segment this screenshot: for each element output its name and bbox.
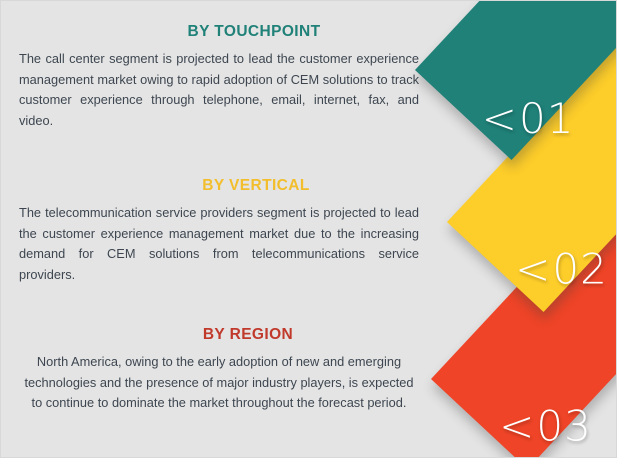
section-body-region: North America, owing to the early adopti… — [19, 352, 419, 414]
ribbon-number-03: <03 — [499, 402, 592, 451]
section-title-touchpoint: BY TOUCHPOINT — [19, 23, 419, 40]
ribbon-index-label: 03 — [536, 402, 591, 451]
chevron-left-icon: < — [482, 94, 518, 143]
section-body-touchpoint: The call center segment is projected to … — [19, 49, 419, 132]
ribbon-index-label: 02 — [552, 245, 607, 294]
section-body-vertical: The telecommunication service providers … — [19, 203, 419, 286]
section-title-region: BY REGION — [19, 326, 419, 343]
ribbon-index-label: 01 — [519, 94, 574, 143]
infographic-canvas: <01 <02 <03 BY TOUCHPOINT The call cente… — [0, 0, 617, 458]
chevron-left-icon: < — [499, 402, 535, 451]
section-touchpoint: BY TOUCHPOINT The call center segment is… — [19, 23, 419, 132]
section-region: BY REGION North America, owing to the ea… — [19, 326, 419, 414]
section-title-vertical: BY VERTICAL — [19, 177, 419, 194]
ribbon-number-02: <02 — [515, 245, 608, 294]
chevron-left-icon: < — [515, 245, 551, 294]
section-vertical: BY VERTICAL The telecommunication servic… — [19, 177, 419, 286]
ribbon-number-01: <01 — [482, 94, 575, 143]
